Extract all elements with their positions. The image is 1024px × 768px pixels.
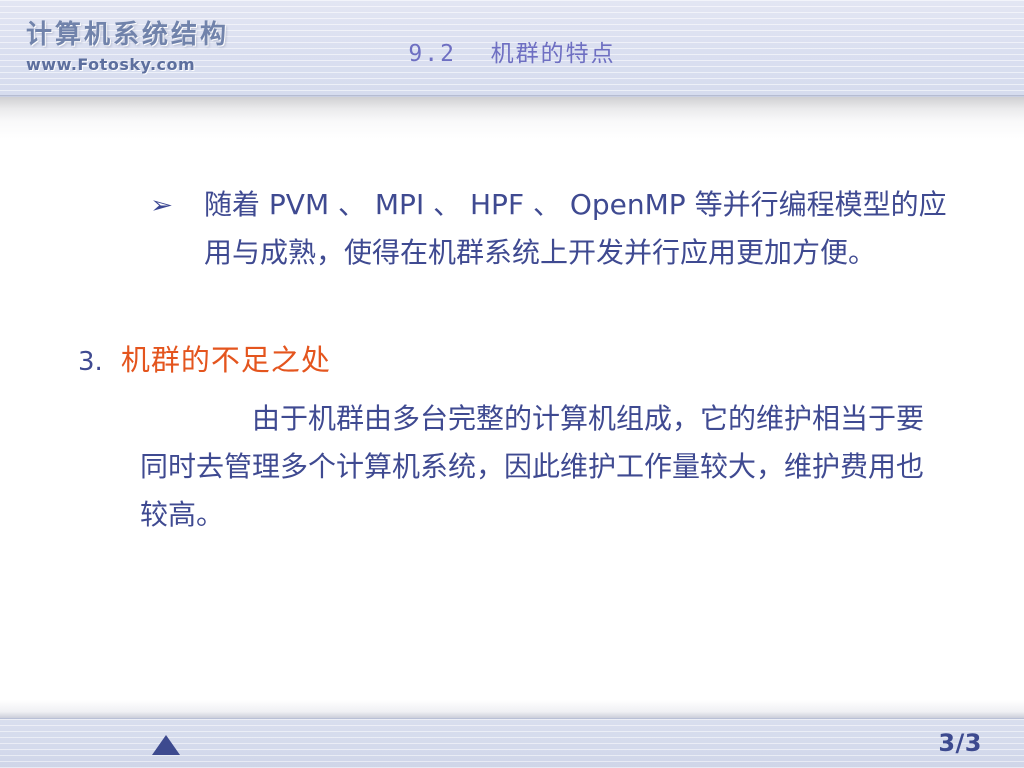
body-paragraph: 由于机群由多台完整的计算机组成，它的维护相当于要同时去管理多个计算机系统，因此维… [140, 395, 940, 539]
footer-band: 3/3 [0, 718, 1024, 768]
header-drop-shadow [0, 97, 1024, 139]
arrow-bullet-icon: ➢ [150, 181, 212, 229]
slide-root: 计算机系统结构 www.Fotosky.com 9.2 机群的特点 ➢ 随着 P… [0, 0, 1024, 768]
heading-text: 机群的不足之处 [121, 337, 331, 379]
section-number: 9.2 [408, 41, 456, 67]
header-divider [0, 95, 1024, 96]
numbered-heading: 3. 机群的不足之处 [78, 337, 331, 379]
bullet-item: ➢ 随着 PVM 、 MPI 、 HPF 、 OpenMP 等并行编程模型的应用… [150, 181, 950, 277]
triangle-up-icon[interactable] [152, 735, 180, 755]
page-indicator: 3/3 [938, 729, 982, 757]
slide-section-title: 9.2 机群的特点 [0, 34, 1024, 68]
section-title-text: 机群的特点 [491, 41, 616, 67]
bullet-item-text: 随着 PVM 、 MPI 、 HPF 、 OpenMP 等并行编程模型的应用与成… [204, 181, 950, 277]
heading-index: 3. [78, 347, 103, 377]
slide-content: ➢ 随着 PVM 、 MPI 、 HPF 、 OpenMP 等并行编程模型的应用… [0, 139, 1024, 699]
footer-drop-shadow [0, 700, 1024, 718]
